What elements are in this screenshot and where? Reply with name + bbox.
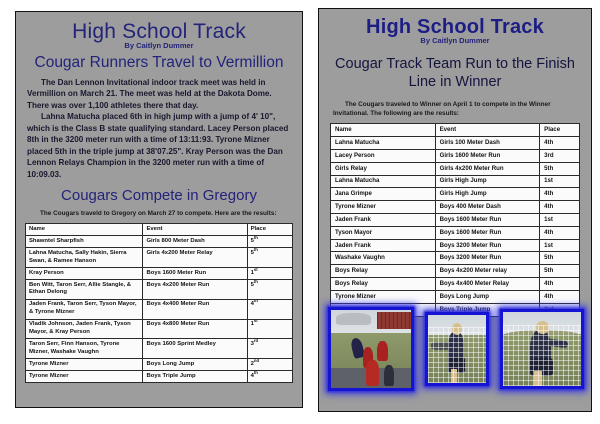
table-row: Lacey PersonGirls 1600 Meter Run3rd	[331, 149, 580, 162]
cell-event: Boys 1600 Meter Run	[435, 226, 540, 239]
table-row: Jana GrimpeGirls High Jump4th	[331, 188, 580, 201]
column-header-name: Name	[26, 224, 143, 236]
cell-place: 4th	[540, 188, 580, 201]
table-row: Tyson MayorBoys 1600 Meter Run4th	[331, 226, 580, 239]
cell-place: 5th	[540, 162, 580, 175]
cell-event: Girls 800 Meter Dash	[143, 236, 247, 248]
cell-event: Boys 4x200 Meter relay	[435, 265, 540, 278]
cell-place: 5th	[247, 248, 292, 268]
cell-name: Girls Relay	[331, 162, 436, 175]
masthead-title: High School Track	[319, 9, 591, 37]
cell-event: Girls High Jump	[435, 175, 540, 188]
cell-event: Boys 1600 Sprint Medley	[143, 339, 247, 359]
cell-name: Tyrone Mizner	[26, 371, 143, 383]
cell-event: Boys 4x400 Meter Run	[143, 299, 247, 319]
table-row: Tyrone MiznerBoys Long Jump2nd	[26, 359, 293, 371]
cell-event: Boys Triple Jump	[143, 371, 247, 383]
column-header-event: Event	[143, 224, 247, 236]
cell-place: 4th	[540, 278, 580, 291]
cell-event: Boys 1600 Meter Run	[143, 268, 247, 280]
cell-name: Ben Witt, Taron Serr, Allie Stangle, & E…	[26, 280, 143, 300]
cell-event: Girls 4x200 Meter Relay	[143, 248, 247, 268]
cell-name: Taron Serr, Finn Hanson, Tyrone Mizner, …	[26, 339, 143, 359]
cell-place: 4th	[247, 371, 292, 383]
cell-place: 2nd	[247, 359, 292, 371]
table-row: Ben Witt, Taron Serr, Allie Stangle, & E…	[26, 280, 293, 300]
cell-name: Jana Grimpe	[331, 188, 436, 201]
cell-place: 1st	[540, 214, 580, 227]
cell-name: Tyrone Mizner	[26, 359, 143, 371]
photo-strip	[325, 301, 587, 397]
gregory-intro-text: The Cougars traveld to Gregory on March …	[28, 209, 290, 218]
table-row: Jaden FrankBoys 3200 Meter Run1st	[331, 239, 580, 252]
cell-name: Lahna Matucha	[331, 137, 436, 150]
article-paragraph-2: Lahna Matucha placed 6th in high jump wi…	[27, 111, 291, 180]
cell-event: Girls 1600 Meter Run	[435, 149, 540, 162]
cell-place: 1st	[247, 319, 292, 339]
cell-place: 3rd	[540, 149, 580, 162]
cell-place: 4th	[540, 137, 580, 150]
winner-results-table: NameEventPlace Lahna MatuchaGirls 100 Me…	[330, 123, 580, 316]
table-header-row: NameEventPlace	[331, 124, 580, 137]
gregory-results-table: NameEventPlace Shawntel SharpfishGirls 8…	[25, 223, 293, 383]
cell-place: 5th	[540, 252, 580, 265]
cell-name: Kray Person	[26, 268, 143, 280]
table-row: Washake VaughnBoys 3200 Meter Run5th	[331, 252, 580, 265]
cell-place: 1st	[247, 268, 292, 280]
table-row: Girls RelayGirls 4x200 Meter Run5th	[331, 162, 580, 175]
cell-place: 4th	[540, 201, 580, 214]
newsletter-spread: High School Track By Caitlyn Dummer Coug…	[0, 0, 600, 424]
cell-event: Boys Long Jump	[143, 359, 247, 371]
table-row: Kray PersonBoys 1600 Meter Run1st	[26, 268, 293, 280]
table-row: Jaden Frank, Taron Serr, Tyson Mayor, & …	[26, 299, 293, 319]
cell-place: 4th	[247, 299, 292, 319]
table-row: Taron Serr, Finn Hanson, Tyrone Mizner, …	[26, 339, 293, 359]
cell-name: Jaden Frank	[331, 214, 436, 227]
cell-event: Girls 100 Meter Dash	[435, 137, 540, 150]
cell-event: Boys 4x400 Meter Relay	[435, 278, 540, 291]
masthead-left: High School Track By Caitlyn Dummer	[16, 12, 302, 50]
cell-event: Boys 3200 Meter Run	[435, 252, 540, 265]
headline-vermillion: Cougar Runners Travel to Vermillion	[16, 54, 302, 71]
table-header-row: NameEventPlace	[26, 224, 293, 236]
photo-high-jump	[328, 307, 414, 391]
column-header-place: Place	[540, 124, 580, 137]
newsletter-page-right: High School Track By Caitlyn Dummer Coug…	[318, 8, 592, 412]
column-header-name: Name	[331, 124, 436, 137]
cell-name: Vladik Johnson, Jaden Frank, Tyson Mayor…	[26, 319, 143, 339]
cell-name: Jaden Frank	[331, 239, 436, 252]
table-row: Lahna Matucha, Sally Hakin, Sierra Swan,…	[26, 248, 293, 268]
cell-event: Boys 4x800 Meter Run	[143, 319, 247, 339]
cell-name: Tyrone Mizner	[331, 201, 436, 214]
cell-event: Girls 4x200 Meter Run	[435, 162, 540, 175]
cell-name: Tyson Mayor	[331, 226, 436, 239]
cell-event: Boys 1600 Meter Run	[435, 214, 540, 227]
photo-shot-put-thrower	[500, 309, 584, 389]
newsletter-page-left: High School Track By Caitlyn Dummer Coug…	[15, 11, 303, 408]
cell-name: Shawntel Sharpfish	[26, 236, 143, 248]
cell-event: Boys 400 Meter Dash	[435, 201, 540, 214]
table-row: Boys RelayBoys 4x400 Meter Relay4th	[331, 278, 580, 291]
table-row: Tyrone MiznerBoys 400 Meter Dash4th	[331, 201, 580, 214]
cell-name: Lacey Person	[331, 149, 436, 162]
table-row: Lahna MatuchaGirls High Jump1st	[331, 175, 580, 188]
column-header-place: Place	[247, 224, 292, 236]
table-row: Jaden FrankBoys 1600 Meter Run1st	[331, 214, 580, 227]
winner-intro-text: The Cougars traveled to Winner on April …	[333, 100, 577, 119]
cell-name: Boys Relay	[331, 265, 436, 278]
cell-name: Boys Relay	[331, 278, 436, 291]
cell-place: 3rd	[247, 339, 292, 359]
cell-place: 5th	[247, 236, 292, 248]
cell-place: 5th	[540, 265, 580, 278]
cell-place: 5th	[247, 280, 292, 300]
masthead-byline: By Caitlyn Dummer	[16, 41, 302, 50]
winner-results-table-wrap: NameEventPlace Lahna MatuchaGirls 100 Me…	[330, 123, 580, 316]
cell-name: Jaden Frank, Taron Serr, Tyson Mayor, & …	[26, 299, 143, 319]
table-body: Shawntel SharpfishGirls 800 Meter Dash5t…	[26, 236, 293, 383]
cell-place: 1st	[540, 175, 580, 188]
cell-name: Lahna Matucha	[331, 175, 436, 188]
cell-event: Girls High Jump	[435, 188, 540, 201]
gregory-results-table-wrap: NameEventPlace Shawntel SharpfishGirls 8…	[25, 223, 293, 383]
cell-place: 4th	[540, 226, 580, 239]
cell-name: Lahna Matucha, Sally Hakin, Sierra Swan,…	[26, 248, 143, 268]
masthead-right: High School Track By Caitlyn Dummer	[319, 9, 591, 45]
subhead-gregory: Cougars Compete in Gregory	[16, 187, 302, 204]
table-body: Lahna MatuchaGirls 100 Meter Dash4thLace…	[331, 137, 580, 316]
headline-winner: Cougar Track Team Run to the Finish Line…	[333, 56, 577, 91]
article-paragraph-1: The Dan Lennon Invitational indoor track…	[27, 77, 291, 111]
table-row: Vladik Johnson, Jaden Frank, Tyson Mayor…	[26, 319, 293, 339]
column-header-event: Event	[435, 124, 540, 137]
cell-event: Boys 4x200 Meter Run	[143, 280, 247, 300]
masthead-title: High School Track	[16, 12, 302, 42]
table-row: Lahna MatuchaGirls 100 Meter Dash4th	[331, 137, 580, 150]
masthead-byline: By Caitlyn Dummer	[319, 36, 591, 45]
cell-name: Washake Vaughn	[331, 252, 436, 265]
cell-place: 1st	[540, 239, 580, 252]
table-row: Shawntel SharpfishGirls 800 Meter Dash5t…	[26, 236, 293, 248]
cell-event: Boys 3200 Meter Run	[435, 239, 540, 252]
table-row: Boys RelayBoys 4x200 Meter relay5th	[331, 265, 580, 278]
photo-discus-thrower	[425, 312, 489, 386]
table-row: Tyrone MiznerBoys Triple Jump4th	[26, 371, 293, 383]
